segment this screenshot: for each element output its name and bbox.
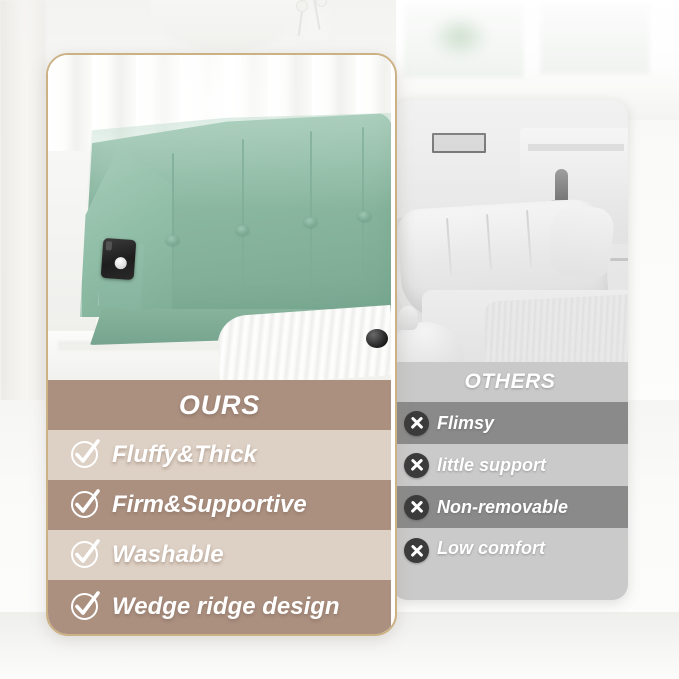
others-feature-list: OTHERS Flimsy little support Non-removab…	[392, 362, 628, 600]
curtain-left	[0, 0, 46, 420]
others-feature-label: Non-removable	[437, 497, 568, 518]
others-feature-row: Non-removable	[392, 486, 628, 528]
others-comparison-card: OTHERS Flimsy little support Non-removab…	[392, 100, 628, 600]
photo-gloss-overlay	[392, 100, 628, 362]
x-circle-icon	[404, 538, 429, 563]
ours-comparison-card: OURS Fluffy&Thick Firm&Supportive	[46, 53, 397, 636]
others-header-label: OTHERS	[464, 370, 555, 394]
ours-feature-label: Washable	[112, 541, 224, 569]
flower-a	[296, 0, 308, 12]
others-product-photo	[392, 100, 628, 362]
ours-feature-list: OURS Fluffy&Thick Firm&Supportive	[48, 380, 391, 634]
check-circle-icon	[70, 440, 101, 471]
ours-feature-label: Wedge ridge design	[112, 593, 340, 621]
wedge-button-tuft	[304, 217, 317, 227]
others-feature-label: little support	[437, 455, 546, 476]
phone-in-pocket	[101, 238, 137, 280]
photo-white-blanket	[216, 305, 391, 380]
ours-feature-row: Wedge ridge design	[48, 580, 391, 634]
ours-feature-row: Washable	[48, 530, 391, 580]
wedge-button-tuft	[236, 225, 249, 235]
ours-feature-label: Firm&Supportive	[112, 491, 307, 519]
others-feature-row: Flimsy	[392, 402, 628, 444]
others-feature-label: Flimsy	[437, 413, 494, 434]
wedge-button-tuft	[358, 211, 371, 221]
x-circle-icon	[404, 495, 429, 520]
phone-camera-icon	[106, 241, 113, 250]
others-feature-row: little support	[392, 444, 628, 486]
check-circle-icon	[70, 490, 101, 521]
others-feature-label: Low comfort	[437, 538, 545, 559]
check-circle-icon	[70, 592, 101, 623]
wedge-button-tuft	[166, 235, 179, 245]
ours-feature-label: Fluffy&Thick	[112, 441, 257, 469]
x-circle-icon	[404, 411, 429, 436]
phone-lens-highlight	[114, 257, 127, 270]
ours-header: OURS	[48, 380, 391, 430]
photo-dark-knob	[366, 329, 388, 348]
check-circle-icon	[70, 540, 101, 571]
window-pane-right	[540, 2, 650, 74]
ours-feature-row: Firm&Supportive	[48, 480, 391, 530]
ours-feature-row: Fluffy&Thick	[48, 430, 391, 480]
ours-header-label: OURS	[179, 390, 260, 421]
wedge-seam	[242, 139, 244, 309]
ours-product-photo	[48, 55, 391, 380]
window-foliage-blur	[430, 14, 490, 60]
others-feature-row: Low comfort	[392, 528, 628, 600]
others-header: OTHERS	[392, 362, 628, 402]
x-circle-icon	[404, 453, 429, 478]
wedge-seam	[172, 153, 174, 311]
